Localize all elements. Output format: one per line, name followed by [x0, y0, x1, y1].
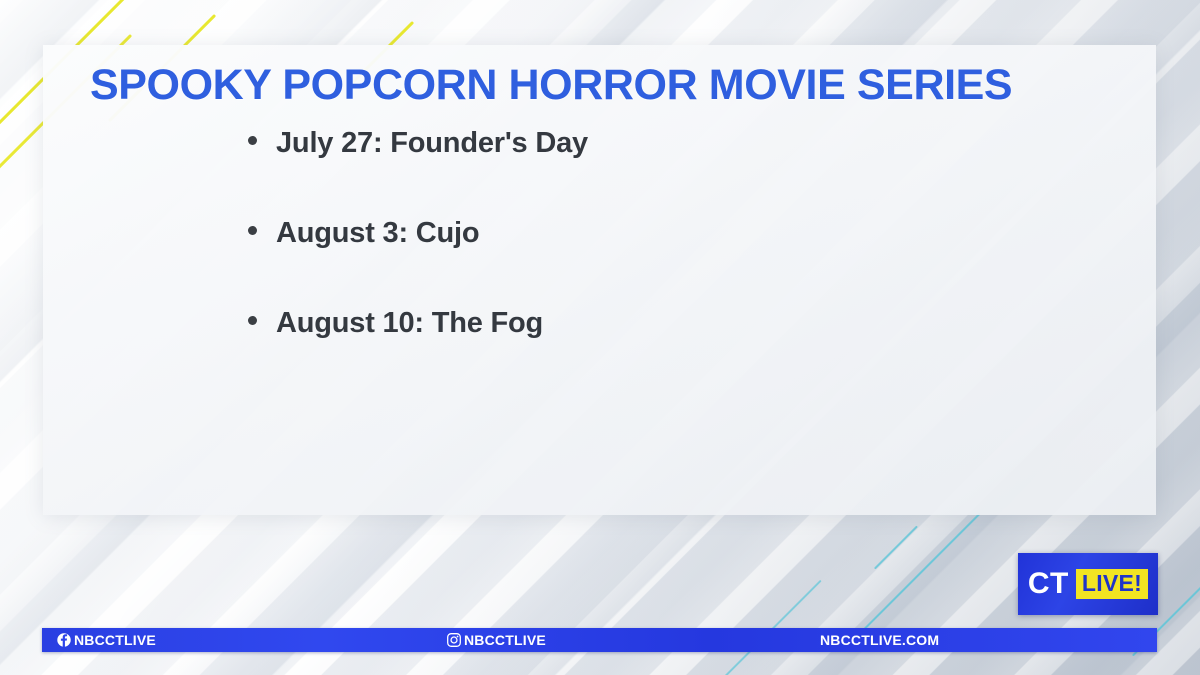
list-item-label: August 3: Cujo [276, 217, 479, 250]
bullet-dot-icon [248, 316, 257, 325]
content-card: SPOOKY POPCORN HORROR MOVIE SERIES July … [43, 45, 1156, 515]
social-handle-facebook: NBCCTLIVE [57, 628, 156, 652]
list-item: July 27: Founder's Day [248, 127, 588, 217]
live-badge: LIVE! [1076, 569, 1148, 599]
social-bar: NBCCTLIVE NBCCTLIVE NBCCTLIVE.COM [42, 628, 1157, 652]
ct-logo-text: CT [1028, 569, 1069, 599]
list-item: August 10: The Fog [248, 307, 588, 397]
movie-schedule-list: July 27: Founder's Day August 3: Cujo Au… [248, 127, 588, 397]
instagram-icon [447, 633, 461, 647]
bullet-dot-icon [248, 136, 257, 145]
live-badge-label: LIVE! [1082, 570, 1142, 596]
list-item-label: August 10: The Fog [276, 307, 543, 340]
accent-line-teal-2 [874, 526, 918, 570]
facebook-icon [57, 633, 71, 647]
social-handle-label: NBCCTLIVE [464, 632, 546, 648]
ct-live-logo: CT LIVE! [1018, 553, 1158, 615]
social-handle-label: NBCCTLIVE.COM [820, 632, 939, 648]
list-item: August 3: Cujo [248, 217, 588, 307]
page-title: SPOOKY POPCORN HORROR MOVIE SERIES [90, 61, 1012, 110]
social-handle-label: NBCCTLIVE [74, 632, 156, 648]
social-handle-instagram: NBCCTLIVE [447, 628, 546, 652]
broadcast-lower-third-screen: SPOOKY POPCORN HORROR MOVIE SERIES July … [0, 0, 1200, 675]
accent-line-teal-1 [852, 513, 981, 642]
list-item-label: July 27: Founder's Day [276, 127, 588, 160]
bullet-dot-icon [248, 226, 257, 235]
social-handle-website: NBCCTLIVE.COM [820, 628, 939, 652]
